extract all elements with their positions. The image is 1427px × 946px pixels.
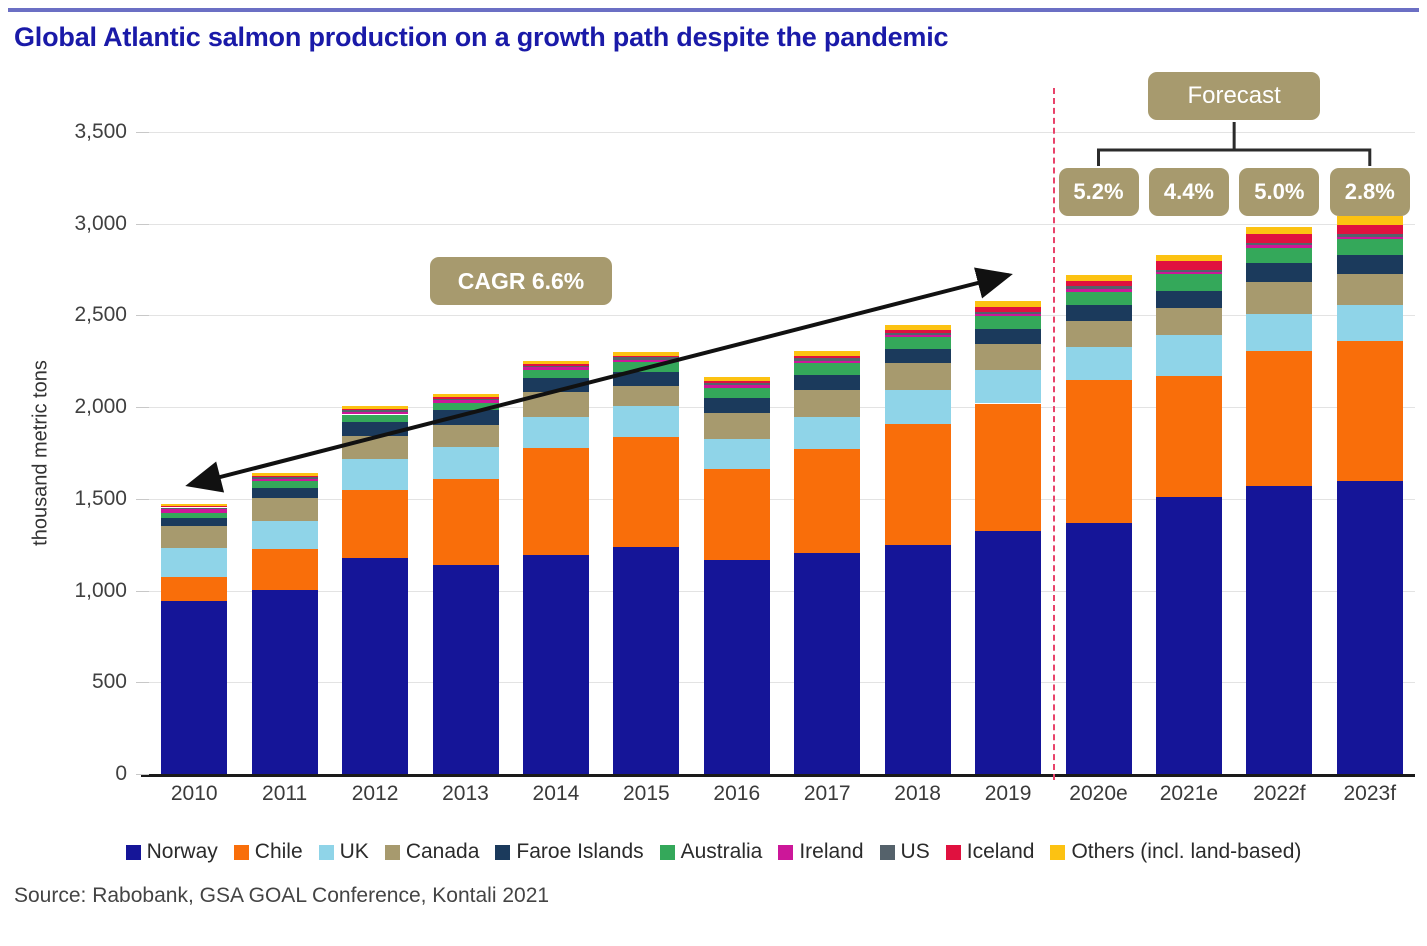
bar-column[interactable] <box>1066 275 1132 774</box>
bar-segment[interactable] <box>1246 227 1312 234</box>
bar-segment[interactable] <box>1337 255 1403 274</box>
bar-segment[interactable] <box>1066 292 1132 306</box>
bar-segment[interactable] <box>704 385 770 388</box>
x-axis-tick-label: 2013 <box>420 782 510 806</box>
bar-segment[interactable] <box>704 388 770 398</box>
bar-segment[interactable] <box>161 518 227 526</box>
bar-segment[interactable] <box>161 601 227 774</box>
y-axis-tick-label: 1,000 <box>74 579 127 603</box>
bar-segment[interactable] <box>1066 321 1132 347</box>
bar-column[interactable] <box>704 377 770 774</box>
y-axis-tick-mark <box>136 132 149 133</box>
bar-segment[interactable] <box>885 424 951 545</box>
y-axis-tick-mark <box>136 315 149 316</box>
bar-segment[interactable] <box>1066 347 1132 380</box>
gridline <box>149 132 1415 133</box>
bar-segment[interactable] <box>342 436 408 460</box>
bar-segment[interactable] <box>1337 341 1403 481</box>
bar-segment[interactable] <box>161 508 227 510</box>
gridline <box>149 407 1415 408</box>
bar-segment[interactable] <box>704 377 770 381</box>
bar-segment[interactable] <box>252 521 318 549</box>
legend-swatch-icon <box>946 845 961 860</box>
bar-column[interactable] <box>1246 227 1312 774</box>
legend-item-label: Canada <box>406 840 480 864</box>
bar-segment[interactable] <box>975 404 1041 531</box>
bar-segment[interactable] <box>975 344 1041 371</box>
x-axis-tick-label: 2017 <box>782 782 872 806</box>
bar-segment[interactable] <box>433 400 499 402</box>
legend-item[interactable]: UK <box>319 840 369 864</box>
bar-segment[interactable] <box>523 364 589 365</box>
bar-segment[interactable] <box>1337 274 1403 305</box>
bar-segment[interactable] <box>704 381 770 383</box>
y-axis-tick-mark <box>136 774 149 775</box>
x-axis-tick-label: 2016 <box>692 782 782 806</box>
bar-segment[interactable] <box>1246 263 1312 282</box>
bar-segment[interactable] <box>975 301 1041 307</box>
bar-segment[interactable] <box>975 329 1041 344</box>
bar-segment[interactable] <box>1337 225 1403 234</box>
bar-segment[interactable] <box>613 406 679 437</box>
bar-segment[interactable] <box>433 479 499 565</box>
bar-segment[interactable] <box>342 409 408 410</box>
bar-column[interactable] <box>885 325 951 774</box>
growth-rate-pill: 5.2% <box>1059 168 1139 216</box>
legend-item-label: Others (incl. land-based) <box>1071 840 1301 864</box>
bar-segment[interactable] <box>161 506 227 507</box>
legend-item[interactable]: Others (incl. land-based) <box>1050 840 1301 864</box>
forecast-divider-line <box>1053 88 1055 780</box>
bar-segment[interactable] <box>161 504 227 506</box>
bar-segment[interactable] <box>1246 282 1312 313</box>
bar-segment[interactable] <box>523 448 589 554</box>
bar-segment[interactable] <box>1156 272 1222 274</box>
x-axis-tick-label: 2021e <box>1144 782 1234 806</box>
x-axis-tick-label: 2014 <box>511 782 601 806</box>
bar-segment[interactable] <box>252 481 318 487</box>
bar-segment[interactable] <box>1156 291 1222 308</box>
legend-item[interactable]: Canada <box>385 840 480 864</box>
bar-segment[interactable] <box>342 459 408 489</box>
gridline <box>149 682 1415 683</box>
bar-column[interactable] <box>161 504 227 774</box>
bar-segment[interactable] <box>1066 305 1132 321</box>
bar-segment[interactable] <box>794 361 860 364</box>
legend-item-label: Ireland <box>799 840 863 864</box>
bar-segment[interactable] <box>794 356 860 359</box>
bar-segment[interactable] <box>1156 497 1222 774</box>
bar-segment[interactable] <box>1246 245 1312 248</box>
bar-segment[interactable] <box>704 413 770 440</box>
bar-segment[interactable] <box>704 469 770 561</box>
forecast-bracket <box>1099 150 1370 166</box>
x-axis-tick-label: 2023f <box>1325 782 1415 806</box>
legend-item-label: Faroe Islands <box>516 840 643 864</box>
gridline <box>149 315 1415 316</box>
bar-column[interactable] <box>252 473 318 774</box>
bar-segment[interactable] <box>252 476 318 477</box>
x-axis-tick-label: 2010 <box>149 782 239 806</box>
bar-segment[interactable] <box>1246 351 1312 486</box>
bar-segment[interactable] <box>342 412 408 415</box>
x-axis-baseline <box>141 774 1415 777</box>
bar-segment[interactable] <box>613 357 679 359</box>
bar-segment[interactable] <box>523 417 589 448</box>
bar-segment[interactable] <box>704 398 770 413</box>
bar-segment[interactable] <box>794 363 860 375</box>
bar-segment[interactable] <box>794 375 860 390</box>
y-axis-tick-label: 500 <box>92 670 127 694</box>
bar-segment[interactable] <box>794 358 860 360</box>
bar-segment[interactable] <box>975 531 1041 774</box>
x-axis-tick-label: 2018 <box>872 782 962 806</box>
bar-segment[interactable] <box>613 386 679 406</box>
y-axis-tick-mark <box>136 682 149 683</box>
bar-segment[interactable] <box>613 547 679 774</box>
bar-segment[interactable] <box>794 449 860 553</box>
bar-segment[interactable] <box>433 394 499 397</box>
bar-segment[interactable] <box>975 312 1041 314</box>
bar-segment[interactable] <box>1066 275 1132 281</box>
bar-segment[interactable] <box>342 410 408 412</box>
bar-segment[interactable] <box>1156 261 1222 269</box>
bar-segment[interactable] <box>1156 274 1222 291</box>
bar-segment[interactable] <box>252 479 318 482</box>
bar-segment[interactable] <box>1337 305 1403 341</box>
bar-segment[interactable] <box>252 590 318 774</box>
bar-segment[interactable] <box>975 314 1041 316</box>
bar-segment[interactable] <box>613 352 679 355</box>
bar-segment[interactable] <box>523 361 589 364</box>
bar-segment[interactable] <box>523 378 589 393</box>
bar-segment[interactable] <box>1246 486 1312 774</box>
bar-segment[interactable] <box>613 356 679 358</box>
growth-rate-pill: 4.4% <box>1149 168 1229 216</box>
bar-segment[interactable] <box>704 560 770 774</box>
legend-item-label: UK <box>340 840 369 864</box>
bar-segment[interactable] <box>704 383 770 385</box>
bar-segment[interactable] <box>342 422 408 436</box>
legend-item[interactable]: US <box>880 840 930 864</box>
bar-column[interactable] <box>975 301 1041 774</box>
bar-column[interactable] <box>794 351 860 774</box>
bar-segment[interactable] <box>252 473 318 476</box>
y-axis-tick-label: 2,500 <box>74 303 127 327</box>
bar-segment[interactable] <box>161 526 227 548</box>
bar-column[interactable] <box>613 352 679 774</box>
bar-segment[interactable] <box>523 392 589 417</box>
y-axis-title: thousand metric tons <box>30 360 53 546</box>
bar-segment[interactable] <box>704 439 770 468</box>
y-axis-tick-label: 3,000 <box>74 212 127 236</box>
bar-segment[interactable] <box>433 403 499 410</box>
x-axis-tick-label: 2015 <box>601 782 691 806</box>
bar-column[interactable] <box>1337 216 1403 774</box>
bar-segment[interactable] <box>1156 308 1222 335</box>
y-axis-tick-mark <box>136 591 149 592</box>
x-axis-tick-label: 2011 <box>239 782 329 806</box>
bar-segment[interactable] <box>1066 286 1132 290</box>
bar-segment[interactable] <box>885 325 951 330</box>
bar-segment[interactable] <box>161 577 227 601</box>
legend: NorwayChileUKCanadaFaroe IslandsAustrali… <box>0 840 1427 864</box>
bar-segment[interactable] <box>1066 289 1132 291</box>
legend-swatch-icon <box>1050 845 1065 860</box>
bar-segment[interactable] <box>975 307 1041 312</box>
bar-segment[interactable] <box>1337 239 1403 255</box>
y-axis-tick-label: 1,500 <box>74 487 127 511</box>
legend-item-label: US <box>901 840 930 864</box>
bar-segment[interactable] <box>975 316 1041 329</box>
legend-swatch-icon <box>495 845 510 860</box>
gridline <box>149 499 1415 500</box>
bar-segment[interactable] <box>433 399 499 401</box>
legend-item-label: Iceland <box>967 840 1035 864</box>
bar-segment[interactable] <box>975 370 1041 403</box>
bar-segment[interactable] <box>1337 237 1403 240</box>
bar-segment[interactable] <box>794 417 860 449</box>
gridline <box>149 224 1415 225</box>
bar-segment[interactable] <box>1156 270 1222 272</box>
bar-segment[interactable] <box>1246 234 1312 243</box>
bar-segment[interactable] <box>1246 314 1312 352</box>
bar-segment[interactable] <box>885 333 951 335</box>
source-note: Source: Rabobank, GSA GOAL Conference, K… <box>14 884 549 908</box>
bar-segment[interactable] <box>342 490 408 559</box>
bar-segment[interactable] <box>523 366 589 368</box>
x-axis-tick-label: 2022f <box>1234 782 1324 806</box>
bar-segment[interactable] <box>613 362 679 372</box>
bar-segment[interactable] <box>885 363 951 390</box>
bar-segment[interactable] <box>342 406 408 409</box>
legend-swatch-icon <box>385 845 400 860</box>
bar-segment[interactable] <box>1337 216 1403 225</box>
bar-segment[interactable] <box>794 351 860 355</box>
bar-segment[interactable] <box>794 553 860 774</box>
bar-segment[interactable] <box>252 498 318 521</box>
y-axis-tick-mark <box>136 407 149 408</box>
y-axis-tick-label: 0 <box>115 762 127 786</box>
bar-segment[interactable] <box>613 360 679 363</box>
y-axis-tick-mark <box>136 499 149 500</box>
bar-column[interactable] <box>523 361 589 774</box>
bar-segment[interactable] <box>794 390 860 418</box>
chart-overlay-svg <box>149 132 1415 774</box>
y-axis-tick-mark <box>136 224 149 225</box>
bar-segment[interactable] <box>342 415 408 422</box>
y-axis-tick-label: 3,500 <box>74 120 127 144</box>
legend-item-label: Norway <box>147 840 218 864</box>
legend-item[interactable]: Norway <box>126 840 218 864</box>
legend-swatch-icon <box>126 845 141 860</box>
legend-item[interactable]: Faroe Islands <box>495 840 643 864</box>
bar-segment[interactable] <box>252 477 318 479</box>
bar-segment[interactable] <box>1246 243 1312 245</box>
bar-segment[interactable] <box>885 335 951 337</box>
bar-segment[interactable] <box>1066 523 1132 774</box>
x-axis-tick-label: 2020e <box>1053 782 1143 806</box>
bar-column[interactable] <box>1156 255 1222 774</box>
legend-item[interactable]: Iceland <box>946 840 1035 864</box>
bar-segment[interactable] <box>433 447 499 479</box>
cagr-label-pill: CAGR 6.6% <box>430 257 612 305</box>
growth-rate-pill: 2.8% <box>1330 168 1410 216</box>
bar-segment[interactable] <box>1246 248 1312 264</box>
bar-segment[interactable] <box>1066 380 1132 523</box>
bar-segment[interactable] <box>252 488 318 498</box>
legend-swatch-icon <box>660 845 675 860</box>
bar-segment[interactable] <box>161 509 227 512</box>
bar-segment[interactable] <box>161 548 227 576</box>
bar-segment[interactable] <box>433 397 499 398</box>
legend-swatch-icon <box>778 845 793 860</box>
plot-area: thousand metric tons 05001,0001,5002,000… <box>149 132 1415 774</box>
bar-segment[interactable] <box>523 367 589 369</box>
chart-page: Global Atlantic salmon production on a g… <box>0 0 1427 946</box>
bar-segment[interactable] <box>342 558 408 774</box>
bar-segment[interactable] <box>523 555 589 774</box>
bar-column[interactable] <box>433 394 499 774</box>
bar-column[interactable] <box>342 406 408 774</box>
top-divider-rule <box>8 8 1419 12</box>
bar-segment[interactable] <box>885 330 951 333</box>
legend-item[interactable]: Australia <box>660 840 763 864</box>
bar-segment[interactable] <box>433 410 499 425</box>
bar-segment[interactable] <box>885 349 951 363</box>
bar-segment[interactable] <box>1156 255 1222 261</box>
legend-item[interactable]: Ireland <box>778 840 863 864</box>
bar-segment[interactable] <box>1156 376 1222 497</box>
bar-segment[interactable] <box>433 565 499 774</box>
legend-item-label: Australia <box>681 840 763 864</box>
page-title: Global Atlantic salmon production on a g… <box>14 22 948 53</box>
bar-segment[interactable] <box>613 437 679 547</box>
bar-segment[interactable] <box>1337 234 1403 236</box>
bar-segment[interactable] <box>161 513 227 519</box>
legend-item[interactable]: Chile <box>234 840 303 864</box>
legend-item-label: Chile <box>255 840 303 864</box>
bar-segment[interactable] <box>1156 335 1222 376</box>
bar-segment[interactable] <box>613 372 679 386</box>
legend-swatch-icon <box>319 845 334 860</box>
bar-segment[interactable] <box>433 425 499 447</box>
forecast-label-pill: Forecast <box>1148 72 1320 120</box>
gridline <box>149 591 1415 592</box>
bar-segment[interactable] <box>1066 281 1132 286</box>
y-axis-tick-label: 2,000 <box>74 395 127 419</box>
bar-segment[interactable] <box>885 337 951 349</box>
bar-segment[interactable] <box>885 545 951 774</box>
bar-segment[interactable] <box>523 370 589 378</box>
bar-segment[interactable] <box>1337 481 1403 774</box>
x-axis-tick-label: 2012 <box>330 782 420 806</box>
bar-segment[interactable] <box>252 549 318 589</box>
legend-swatch-icon <box>234 845 249 860</box>
bar-segment[interactable] <box>885 390 951 424</box>
growth-rate-pill: 5.0% <box>1239 168 1319 216</box>
legend-swatch-icon <box>880 845 895 860</box>
x-axis-tick-label: 2019 <box>963 782 1053 806</box>
